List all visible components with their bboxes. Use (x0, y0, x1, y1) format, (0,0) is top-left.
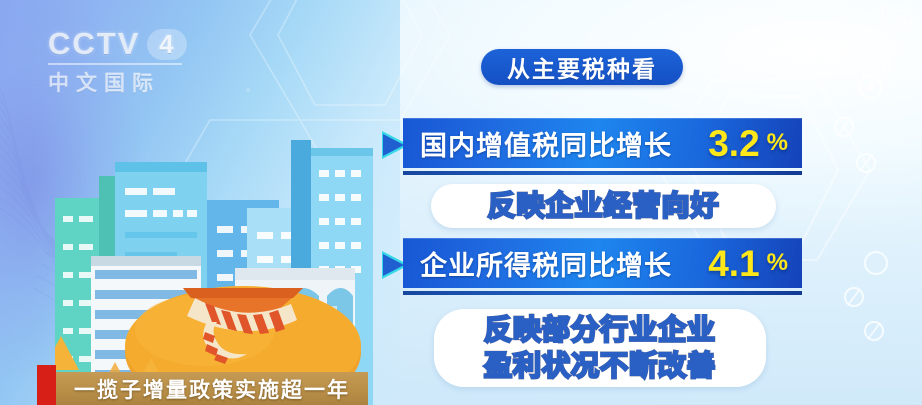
channel-logo: CCTV 4 中文国际 (48, 26, 188, 86)
broadcast-corner-icon (882, 6, 912, 30)
note-text-line1: 反映部分行业企业 (484, 312, 716, 348)
channel-logo-number: 4 (147, 29, 187, 60)
svg-text:CCTV.com: CCTV.com (722, 46, 891, 84)
broadcast-screen: CCTV.com CCTV 4 中文国际 (0, 0, 922, 405)
stat-value-vat: 3.2 (708, 125, 759, 162)
stat-unit-corporate-income-tax: % (767, 249, 788, 277)
circle-dots-decoration (758, 45, 908, 375)
stat-label-vat: 国内增值税同比增长 (420, 124, 672, 163)
city-skyline-illustration (55, 140, 425, 405)
channel-logo-top: CCTV 4 (48, 26, 188, 62)
headline-text: 从主要税种看 (507, 50, 657, 84)
lower-third-headline: 一揽子增量政策实施超一年 (74, 374, 350, 404)
note-pill-vat: 反映企业经营向好 (431, 184, 776, 228)
lower-third-banner: 一揽子增量政策实施超一年 (56, 372, 368, 405)
stat-label-corporate-income-tax: 企业所得税同比增长 (420, 244, 672, 283)
channel-logo-divider (48, 63, 182, 65)
cctv-dot-com-watermark: CCTV.com (718, 34, 908, 94)
note-text-line2: 盈利状况不断改善 (484, 348, 716, 384)
lower-third-accent-block (37, 365, 56, 405)
channel-logo-text: CCTV (48, 26, 140, 62)
channel-logo-subtitle: 中文国际 (48, 67, 188, 97)
stat-bar-vat: 国内增值税同比增长 3.2 % (403, 118, 802, 168)
note-text-vat: 反映企业经营向好 (487, 191, 719, 220)
stat-row-corporate-income-tax: 企业所得税同比增长 4.1 % (378, 238, 802, 296)
stat-row-vat: 国内增值税同比增长 3.2 % (378, 118, 802, 176)
stat-bar-corporate-income-tax: 企业所得税同比增长 4.1 % (403, 238, 802, 288)
headline-pill: 从主要税种看 (481, 49, 683, 85)
stat-value-corporate-income-tax: 4.1 (708, 245, 759, 282)
stat-unit-vat: % (767, 129, 788, 157)
note-pill-corporate-income-tax: 反映部分行业企业 盈利状况不断改善 (434, 309, 766, 387)
